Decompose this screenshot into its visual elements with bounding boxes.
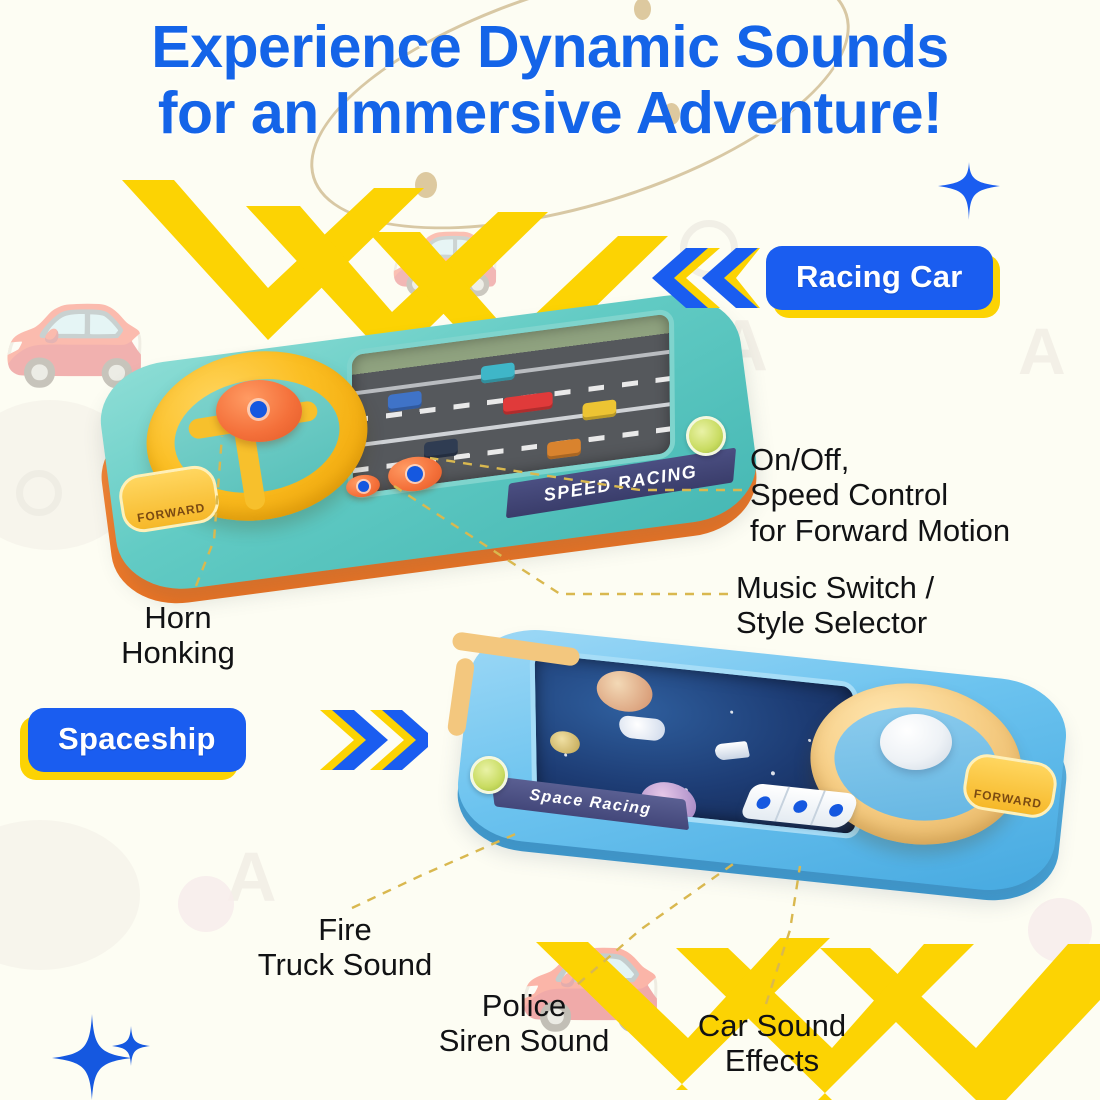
four-point-star-icon [112,1026,150,1066]
chevron-right-group-icon [318,708,428,772]
chevron-left-group-icon [650,246,760,310]
ghost-blob [0,820,140,970]
infographic-canvas: A A A 🚗 🚗 🚗 Experience Dynamic Sounds fo… [0,0,1100,1100]
headline: Experience Dynamic Sounds for an Immersi… [0,14,1100,146]
spaceship-toy: FORWARD Space Racing [452,640,1082,908]
callout-on-off-speed-control: On/Off, Speed Control for Forward Motion [750,442,1010,548]
callout-horn-honking: Horn Honking [78,600,278,671]
callout-fire-truck-sound: Fire Truck Sound [222,912,468,983]
ghost-ring [16,470,62,516]
badge-spaceship-label: Spaceship [58,721,216,756]
screen-planet [596,668,652,714]
four-point-star-icon [938,162,1000,220]
headline-line-1: Experience Dynamic Sounds [0,14,1100,80]
screen-car [582,399,616,421]
chevron-icon [122,180,424,340]
screen-rocket-icon [714,741,751,761]
callout-police-siren-sound: Police Siren Sound [404,988,644,1059]
orbit-dot [415,172,437,198]
screen-ufo-icon [619,715,665,742]
ghost-car: 🚗 [388,200,503,292]
ghost-letter: A [1018,318,1066,384]
badge-racing-car-label: Racing Car [796,259,963,294]
screen-car [547,438,581,460]
ghost-letter: A [226,842,277,912]
screen-planet [550,730,580,755]
screen-car [503,391,553,415]
wheel-hub[interactable] [880,714,952,770]
badge-spaceship[interactable]: Spaceship [28,708,246,772]
headline-line-2: for an Immersive Adventure! [0,80,1100,146]
screen-car [481,362,515,384]
racing-car-toy: FORWARD SPEED RACING [88,318,768,586]
horn-button[interactable] [250,401,267,418]
badge-racing-car[interactable]: Racing Car [766,246,993,310]
callout-music-switch: Music Switch / Style Selector [736,570,934,641]
callout-car-sound-effects: Car Sound Effects [672,1008,872,1079]
